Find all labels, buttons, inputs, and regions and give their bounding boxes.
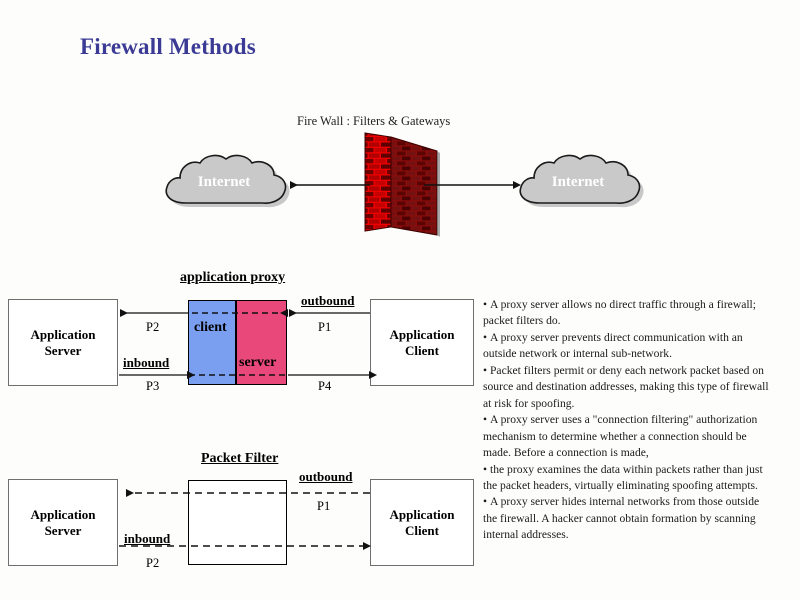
filter-application-server-box: Application Server [8, 479, 118, 566]
proxy-port-p3: P3 [146, 379, 159, 394]
filter-client-line1: Application [389, 507, 454, 522]
firewall-caption: Fire Wall : Filters & Gateways [297, 114, 450, 129]
note-bullet: A proxy server allows no direct traffic … [483, 297, 771, 330]
proxy-server-line1: Application [30, 327, 95, 342]
proxy-client-module-label: client [194, 320, 227, 336]
proxy-server-box-text: Application Server [30, 327, 95, 359]
packet-filter-box [188, 480, 287, 565]
proxy-section-heading: application proxy [180, 270, 285, 286]
filter-port-p1: P1 [317, 499, 330, 514]
slide-canvas: Firewall Methods Fire Wall : Filters & G… [0, 0, 800, 600]
cloud-icon [512, 148, 644, 220]
filter-inbound-label: inbound [124, 531, 170, 547]
internet-cloud-left: Internet [158, 148, 290, 220]
filter-server-box-text: Application Server [30, 507, 95, 539]
note-bullet: A proxy server prevents direct communica… [483, 330, 771, 363]
proxy-client-line1: Application [389, 327, 454, 342]
note-bullet: A proxy server hides internal networks f… [483, 494, 771, 543]
page-title: Firewall Methods [80, 34, 256, 60]
note-bullet: Packet filters permit or deny each netwo… [483, 363, 771, 412]
proxy-outbound-label: outbound [301, 293, 354, 309]
filter-client-box-text: Application Client [389, 507, 454, 539]
proxy-client-box-text: Application Client [389, 327, 454, 359]
brick-wall-icon [357, 131, 441, 241]
note-bullet: A proxy server uses a "connection filter… [483, 412, 771, 461]
proxy-application-client-box: Application Client [370, 299, 474, 386]
filter-port-p2: P2 [146, 556, 159, 571]
proxy-server-module-box [236, 300, 287, 385]
notes-panel: A proxy server allows no direct traffic … [483, 297, 771, 544]
filter-outbound-label: outbound [299, 469, 352, 485]
internet-cloud-right: Internet [512, 148, 644, 220]
proxy-server-module-label: server [239, 355, 276, 371]
proxy-inbound-label: inbound [123, 355, 169, 371]
filter-server-line2: Server [45, 523, 82, 538]
filter-client-line2: Client [405, 523, 439, 538]
proxy-port-p2: P2 [146, 320, 159, 335]
proxy-client-module-box [188, 300, 236, 385]
filter-application-client-box: Application Client [370, 479, 474, 566]
proxy-port-p4: P4 [318, 379, 331, 394]
note-bullet: the proxy examines the data within packe… [483, 462, 771, 495]
proxy-client-line2: Client [405, 343, 439, 358]
filter-server-line1: Application [30, 507, 95, 522]
proxy-application-server-box: Application Server [8, 299, 118, 386]
proxy-port-p1: P1 [318, 320, 331, 335]
proxy-server-line2: Server [45, 343, 82, 358]
cloud-icon [158, 148, 290, 220]
packet-filter-heading: Packet Filter [201, 451, 278, 467]
